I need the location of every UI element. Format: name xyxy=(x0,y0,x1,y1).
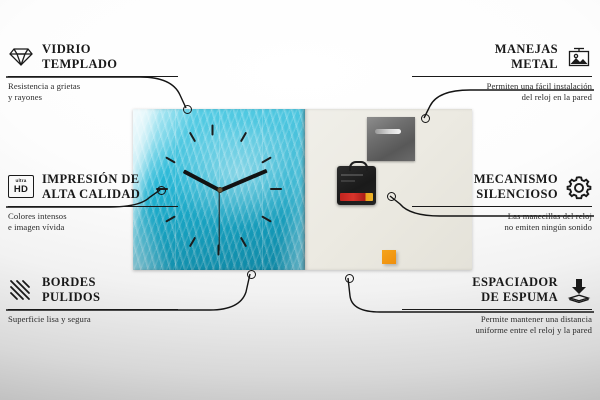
feature-vidrio-templado: VIDRIO TEMPLADO Resistencia a grietas y … xyxy=(8,42,178,103)
infographic-canvas: VIDRIO TEMPLADO Resistencia a grietas y … xyxy=(0,0,600,400)
battery xyxy=(340,193,373,201)
polished-edges-icon xyxy=(8,277,34,303)
feature-divider xyxy=(8,206,178,207)
clock-tick xyxy=(270,188,282,190)
feature-manejas-metal: MANEJAS METAL Permiten una fácil instala… xyxy=(412,42,592,103)
feature-espaciador-de-espuma: ESPACIADOR DE ESPUMA Permite mantener un… xyxy=(402,275,592,336)
feature-title-line2: DE ESPUMA xyxy=(472,290,558,305)
clock-mechanism xyxy=(337,166,376,205)
callout-endpoint-dot xyxy=(387,192,396,201)
feature-title-line1: VIDRIO xyxy=(42,42,117,57)
foam-spacer xyxy=(382,250,396,264)
callout-endpoint-dot xyxy=(345,274,354,283)
mechanism-hook xyxy=(349,161,368,171)
feature-divider xyxy=(412,76,592,77)
feature-title-line2: PULIDOS xyxy=(42,290,100,305)
feature-title-line1: IMPRESIÓN DE xyxy=(42,172,140,187)
feature-title-line2: TEMPLADO xyxy=(42,57,117,72)
foam-spacer-icon xyxy=(566,277,592,303)
metal-hanger-plate xyxy=(367,117,415,161)
feature-title-line2: SILENCIOSO xyxy=(474,187,558,202)
feature-description: Superficie lisa y segura xyxy=(8,314,178,325)
feature-divider xyxy=(412,206,592,207)
callout-endpoint-dot xyxy=(247,270,256,279)
ultra-hd-large-label: HD xyxy=(14,185,28,195)
feature-title-line1: ESPACIADOR xyxy=(472,275,558,290)
feature-title-line1: MANEJAS xyxy=(495,42,558,57)
feature-description: Permite mantener una distancia uniforme … xyxy=(402,314,592,337)
feature-mecanismo-silencioso: MECANISMO SILENCIOSO Las manecillas del … xyxy=(412,172,592,233)
feature-description: Permiten una fácil instalación del reloj… xyxy=(412,81,592,104)
ultra-hd-icon: ultra HD xyxy=(8,174,34,200)
feature-title-line1: MECANISMO xyxy=(474,172,558,187)
feature-title-line2: ALTA CALIDAD xyxy=(42,187,140,202)
picture-frame-icon xyxy=(566,44,592,70)
feature-description: Las manecillas del reloj no emiten ningú… xyxy=(412,211,592,234)
gear-icon xyxy=(566,174,592,200)
hanger-keyhole-slot xyxy=(375,129,401,134)
feature-divider xyxy=(8,309,178,310)
feature-title-line2: METAL xyxy=(495,57,558,72)
feature-description: Colores intensos e imagen vívida xyxy=(8,211,178,234)
feature-divider xyxy=(402,309,592,310)
clock-tick xyxy=(212,125,214,136)
feature-title-line1: BORDES xyxy=(42,275,100,290)
feature-divider xyxy=(8,76,178,77)
second-hand xyxy=(218,191,219,251)
feature-impresion-alta-calidad: ultra HD IMPRESIÓN DE ALTA CALIDAD Color… xyxy=(8,172,178,233)
callout-endpoint-dot xyxy=(421,114,430,123)
clock-center-pivot xyxy=(217,187,223,193)
diamond-icon xyxy=(8,44,34,70)
feature-bordes-pulidos: BORDES PULIDOS Superficie lisa y segura xyxy=(8,275,178,325)
callout-endpoint-dot xyxy=(183,105,192,114)
feature-description: Resistencia a grietas y rayones xyxy=(8,81,178,104)
